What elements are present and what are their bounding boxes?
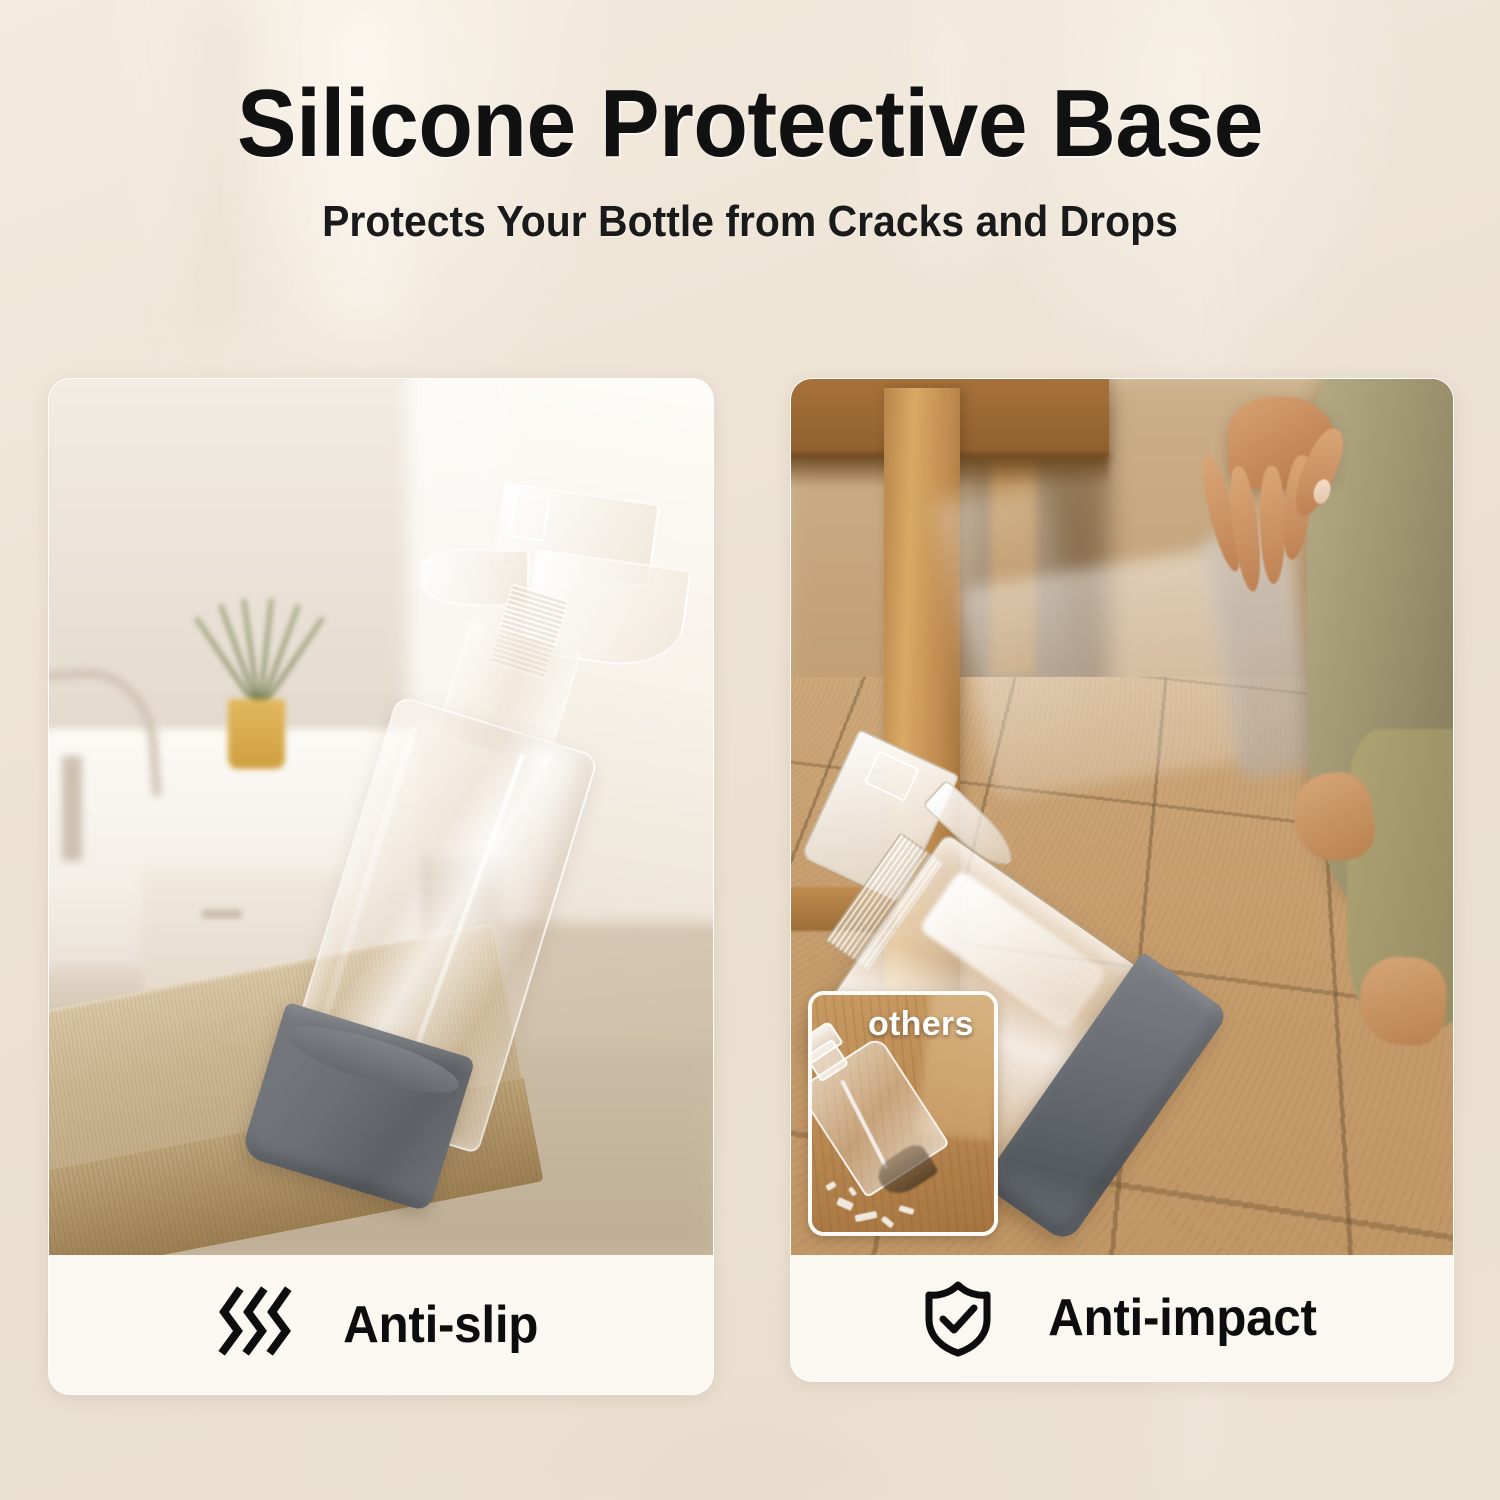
anti-impact-label: Anti-impact (1048, 1292, 1317, 1344)
plant-pot (228, 699, 284, 769)
anti-slip-label: Anti-slip (343, 1299, 538, 1351)
floor-scene: others (791, 379, 1453, 1255)
reaching-hand (1201, 397, 1347, 607)
anti-impact-photo: others (791, 379, 1453, 1255)
header: Silicone Protective Base Protects Your B… (0, 76, 1500, 244)
kitchen-scene (49, 379, 713, 1255)
anti-slip-photo (49, 379, 713, 1255)
panel-anti-slip[interactable]: Anti-slip (48, 378, 714, 1395)
anti-slip-label-bar: Anti-slip (49, 1255, 713, 1394)
faucet-stem (62, 756, 82, 861)
others-label: others (868, 1005, 974, 1044)
zigzag-waves-icon (218, 1286, 292, 1364)
panel-anti-impact[interactable]: others Anti-impact (790, 378, 1454, 1382)
anti-impact-label-bar: Anti-impact (791, 1255, 1453, 1381)
feature-panels: Anti-slip (48, 378, 1452, 1390)
potted-plant-icon (215, 598, 301, 712)
cabinet-handle (202, 909, 242, 920)
others-comparison-inset[interactable]: others (808, 991, 998, 1236)
trigger-nozzle-square (508, 494, 550, 543)
page-title: Silicone Protective Base (53, 76, 1448, 172)
finger (1259, 466, 1286, 584)
page-subtitle: Protects Your Bottle from Cracks and Dro… (53, 200, 1448, 244)
shield-check-icon (921, 1279, 995, 1357)
